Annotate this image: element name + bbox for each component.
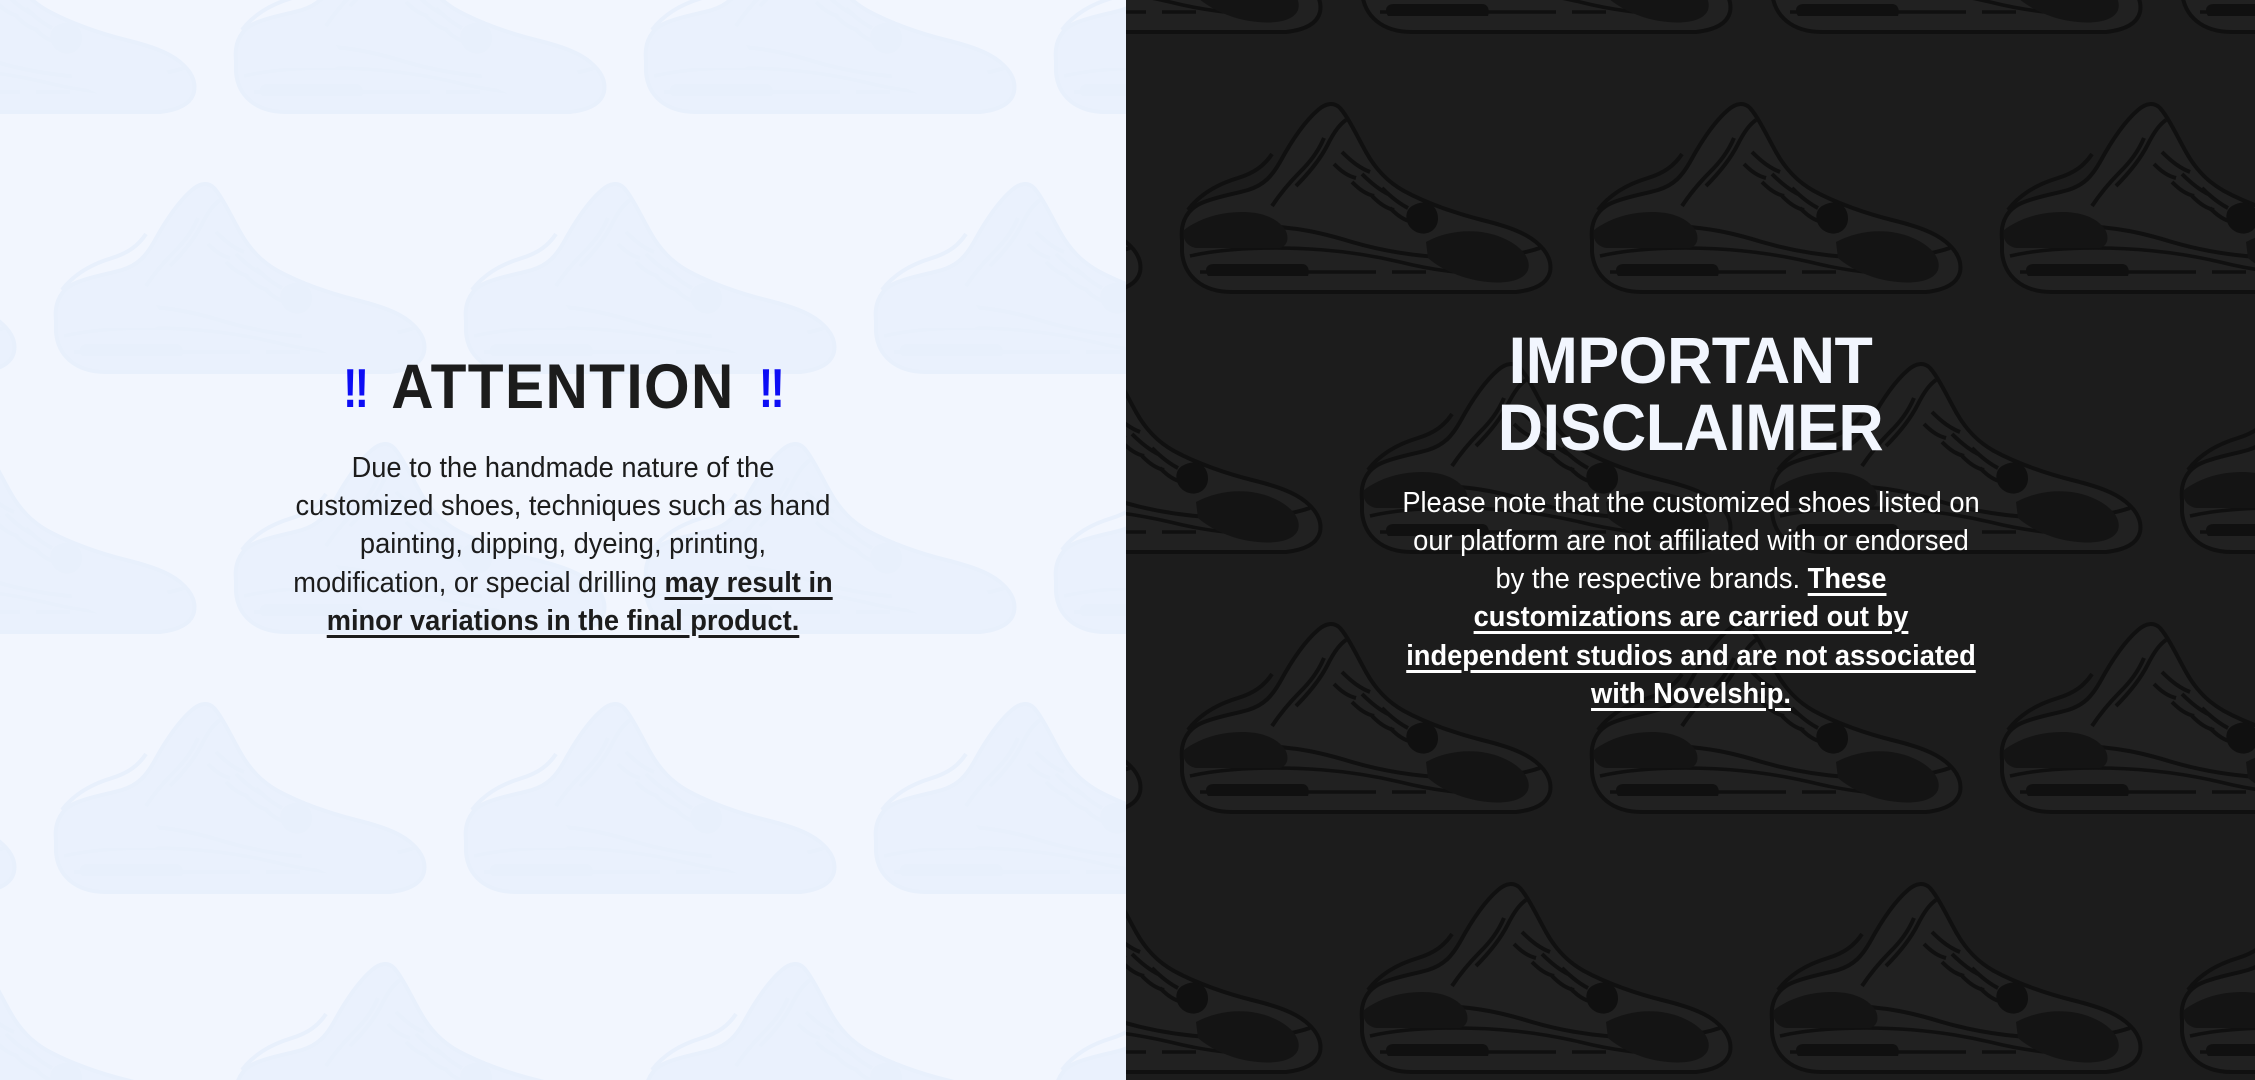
attention-heading-text: ATTENTION	[391, 352, 734, 422]
disclaimer-heading: IMPORTANT DISCLAIMER	[1154, 327, 2227, 462]
attention-heading: ‼ATTENTION‼	[39, 356, 1086, 419]
double-exclamation-icon-right: ‼	[759, 361, 783, 415]
disclaimer-panel: IMPORTANT DISCLAIMER Please note that th…	[1126, 0, 2255, 1080]
disclaimer-body-normal: Please note that the customized shoes li…	[1402, 487, 1979, 596]
disclaimer-heading-line2: DISCLAIMER	[1498, 390, 1883, 464]
attention-content: ‼ATTENTION‼ Due to the handmade nature o…	[0, 356, 1126, 724]
attention-body: Due to the handmade nature of the custom…	[281, 449, 845, 640]
disclaimer-heading-line1: IMPORTANT	[1509, 323, 1873, 397]
attention-panel: ‼ATTENTION‼ Due to the handmade nature o…	[0, 0, 1126, 1080]
disclaimer-banner: ‼ATTENTION‼ Due to the handmade nature o…	[0, 0, 2255, 1080]
disclaimer-body: Please note that the customized shoes li…	[1399, 484, 1982, 714]
double-exclamation-icon-left: ‼	[343, 361, 367, 415]
disclaimer-content: IMPORTANT DISCLAIMER Please note that th…	[1126, 327, 2255, 753]
